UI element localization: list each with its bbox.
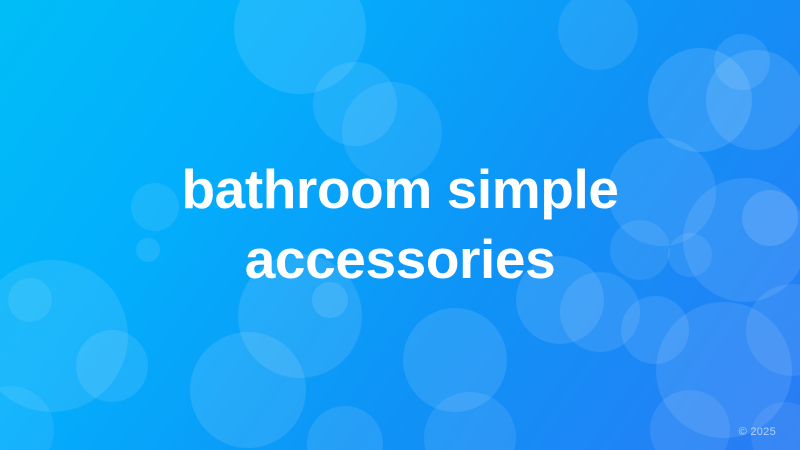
slide-content: bathroom simple accessories — [0, 0, 800, 450]
page-title: bathroom simple accessories — [70, 155, 730, 295]
slide-canvas: bathroom simple accessories © 2025 — [0, 0, 800, 450]
copyright-notice: © 2025 — [739, 426, 776, 438]
